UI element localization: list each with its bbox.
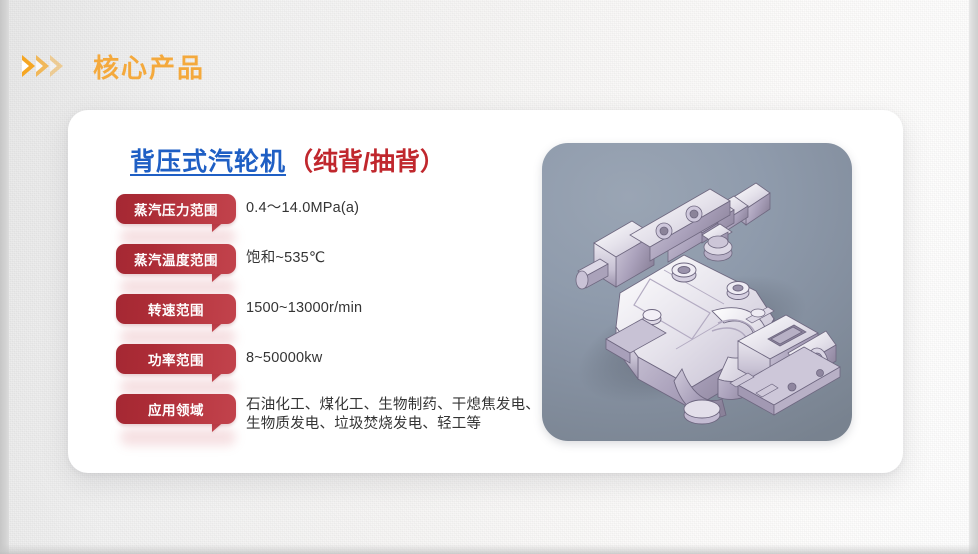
badge-body: 应用领域 (116, 394, 236, 424)
spec-value-line: 石油化工、煤化工、生物制药、干熄焦发电、 (246, 396, 586, 415)
spec-value-line: 0.4～14.0MPa(a) (246, 199, 586, 218)
spec-label-badge: 功率范围 (116, 344, 246, 374)
spec-label-text: 转速范围 (148, 299, 204, 319)
spec-row: 转速范围 1500~13000r/min (116, 292, 586, 342)
spec-value: 石油化工、煤化工、生物制药、干熄焦发电、 生物质发电、垃圾焚烧发电、轻工等 (246, 392, 586, 434)
spec-value-line: 8~50000kw (246, 349, 586, 368)
spec-label-text: 功率范围 (148, 349, 204, 369)
section-header: 核心产品 (22, 46, 205, 86)
slide-bottom-edge (0, 544, 978, 554)
badge-body: 功率范围 (116, 344, 236, 374)
product-image (542, 143, 852, 441)
spec-row: 蒸汽压力范围 0.4～14.0MPa(a) (116, 192, 586, 242)
spec-row: 蒸汽温度范围 饱和~535℃ (116, 242, 586, 292)
product-title: 背压式汽轮机 （纯背/抽背） (130, 142, 445, 178)
badge-body: 蒸汽压力范围 (116, 194, 236, 224)
turbine-render-svg (542, 143, 852, 441)
spec-list: 蒸汽压力范围 0.4～14.0MPa(a) 蒸汽温度范围 饱和~535℃ (116, 192, 586, 454)
spec-value: 0.4～14.0MPa(a) (246, 192, 586, 218)
slide-right-edge (969, 0, 978, 554)
spec-label-text: 应用领域 (148, 399, 204, 419)
spec-label-text: 蒸汽压力范围 (134, 199, 218, 219)
spec-label-badge: 蒸汽温度范围 (116, 244, 246, 274)
spec-label-text: 蒸汽温度范围 (134, 249, 218, 269)
chevron-right-icon (36, 55, 49, 77)
chevron-right-icon (22, 55, 35, 77)
slide-canvas: 核心产品 背压式汽轮机 （纯背/抽背） 蒸汽压力范围 0.4～14.0MPa(a… (0, 0, 978, 554)
product-title-sub: （纯背/抽背） (288, 142, 445, 178)
chevron-right-icon (50, 55, 63, 77)
spec-value-line: 1500~13000r/min (246, 299, 586, 318)
section-title: 核心产品 (93, 48, 205, 85)
spec-label-badge: 应用领域 (116, 394, 246, 424)
spec-value: 1500~13000r/min (246, 292, 586, 318)
slide-left-edge (0, 0, 9, 554)
spec-value: 饱和~535℃ (246, 242, 586, 268)
product-title-main: 背压式汽轮机 (130, 142, 286, 178)
spec-value-line: 饱和~535℃ (246, 249, 586, 268)
spec-row: 应用领域 石油化工、煤化工、生物制药、干熄焦发电、 生物质发电、垃圾焚烧发电、轻… (116, 392, 586, 454)
spec-label-badge: 转速范围 (116, 294, 246, 324)
badge-body: 转速范围 (116, 294, 236, 324)
product-card: 背压式汽轮机 （纯背/抽背） 蒸汽压力范围 0.4～14.0MPa(a) (68, 110, 903, 473)
spec-value-line: 生物质发电、垃圾焚烧发电、轻工等 (246, 415, 586, 434)
chevron-group (22, 55, 63, 77)
spec-row: 功率范围 8~50000kw (116, 342, 586, 392)
spec-value: 8~50000kw (246, 342, 586, 368)
spec-label-badge: 蒸汽压力范围 (116, 194, 246, 224)
badge-body: 蒸汽温度范围 (116, 244, 236, 274)
